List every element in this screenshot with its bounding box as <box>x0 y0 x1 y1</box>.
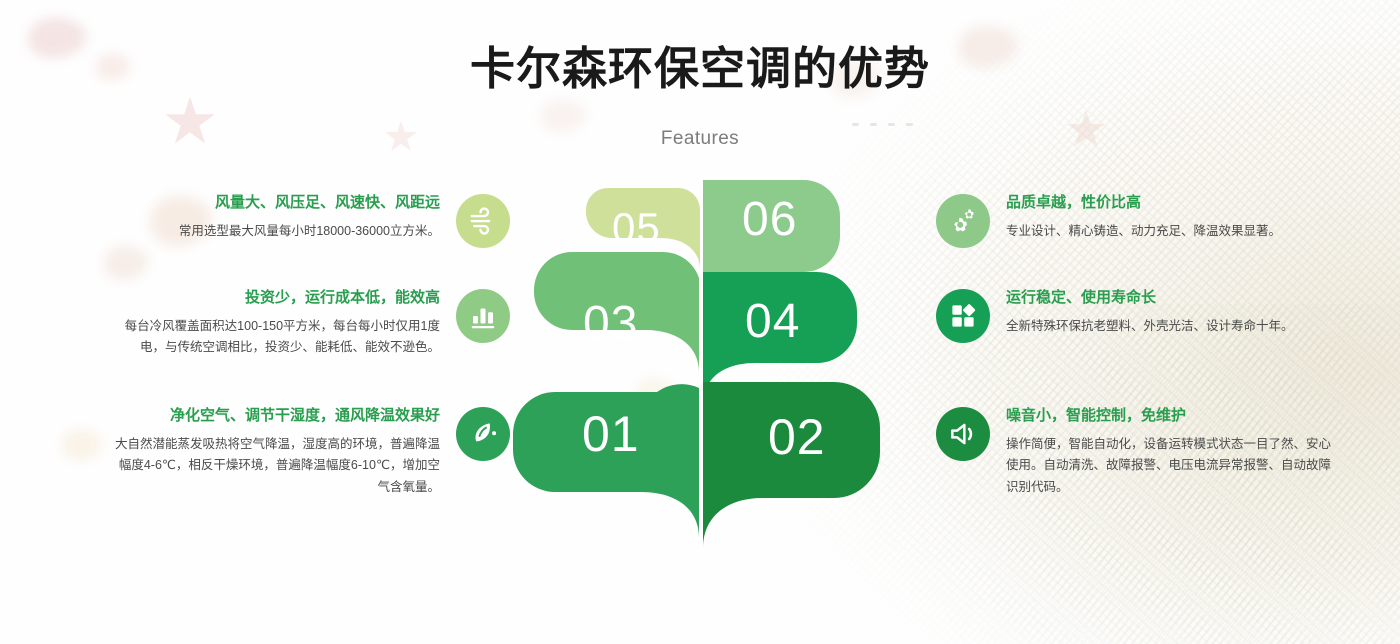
feature-text-04: 运行稳定、使用寿命长 全新特殊环保抗老塑料、外壳光洁、设计寿命十年。 <box>1006 287 1294 337</box>
feature-title-06: 品质卓越，性价比高 <box>1006 192 1281 214</box>
feature-desc-06: 专业设计、精心铸造、动力充足、降温效果显著。 <box>1006 221 1281 243</box>
feature-text-03: 投资少，运行成本低，能效高 每台冷风覆盖面积达100-150平方米，每台每小时仅… <box>110 287 440 359</box>
feature-item-02[interactable]: 噪音小，智能控制，免维护 操作简便，智能自动化，设备运转模式状态一目了然、安心使… <box>936 405 1336 498</box>
feature-title-05: 风量大、风压足、风速快、风距远 <box>179 192 440 214</box>
feature-desc-04: 全新特殊环保抗老塑料、外壳光洁、设计寿命十年。 <box>1006 316 1294 338</box>
feature-text-02: 噪音小，智能控制，免维护 操作简便，智能自动化，设备运转模式状态一目了然、安心使… <box>1006 405 1336 498</box>
gears-icon <box>936 194 990 248</box>
leaf-icon <box>456 407 510 461</box>
feature-desc-03: 每台冷风覆盖面积达100-150平方米，每台每小时仅用1度电，与传统空调相比，投… <box>110 316 440 359</box>
feature-desc-05: 常用选型最大风量每小时18000-36000立方米。 <box>179 221 440 243</box>
leaf-shape-03 <box>534 252 699 372</box>
blocks-icon <box>936 289 990 343</box>
feature-desc-01: 大自然潜能蒸发吸热将空气降温，湿度高的环境，普遍降温幅度4-6℃，相反干燥环境，… <box>110 434 440 499</box>
feature-text-06: 品质卓越，性价比高 专业设计、精心铸造、动力充足、降温效果显著。 <box>1006 192 1281 242</box>
leaf-shape-02 <box>703 382 880 548</box>
feature-title-04: 运行稳定、使用寿命长 <box>1006 287 1294 309</box>
feature-item-01[interactable]: 净化空气、调节干湿度，通风降温效果好 大自然潜能蒸发吸热将空气降温，湿度高的环境… <box>86 405 510 498</box>
feature-title-01: 净化空气、调节干湿度，通风降温效果好 <box>110 405 440 427</box>
feature-title-02: 噪音小，智能控制，免维护 <box>1006 405 1336 427</box>
speaker-icon <box>936 407 990 461</box>
feature-text-05: 风量大、风压足、风速快、风距远 常用选型最大风量每小时18000-36000立方… <box>179 192 440 242</box>
feature-title-03: 投资少，运行成本低，能效高 <box>110 287 440 309</box>
bar-chart-icon <box>456 289 510 343</box>
infographic-canvas: 卡尔森环保空调的优势 Features 05 06 03 04 01 02 风量… <box>0 0 1400 644</box>
feature-item-03[interactable]: 投资少，运行成本低，能效高 每台冷风覆盖面积达100-150平方米，每台每小时仅… <box>100 287 510 359</box>
feature-text-01: 净化空气、调节干湿度，通风降温效果好 大自然潜能蒸发吸热将空气降温，湿度高的环境… <box>110 405 440 498</box>
feature-item-05[interactable]: 风量大、风压足、风速快、风距远 常用选型最大风量每小时18000-36000立方… <box>100 192 510 248</box>
wind-icon <box>456 194 510 248</box>
feature-item-06[interactable]: 品质卓越，性价比高 专业设计、精心铸造、动力充足、降温效果显著。 <box>936 192 1336 248</box>
leaf-shape-01 <box>513 384 699 538</box>
feature-desc-02: 操作简便，智能自动化，设备运转模式状态一目了然、安心使用。自动清洗、故障报警、电… <box>1006 434 1336 499</box>
feature-item-04[interactable]: 运行稳定、使用寿命长 全新特殊环保抗老塑料、外壳光洁、设计寿命十年。 <box>936 287 1336 343</box>
